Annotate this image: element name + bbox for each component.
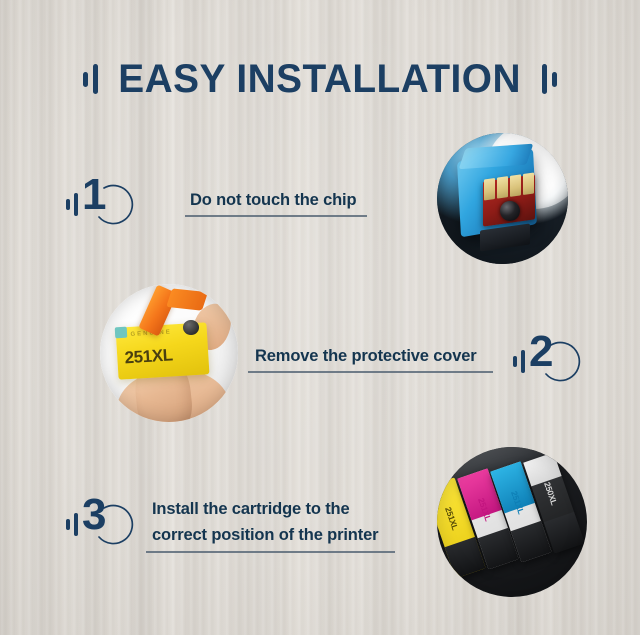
step-2-number: 2 <box>529 330 553 374</box>
step-3-underline <box>146 551 395 553</box>
step-3-text-line-2: correct position of the printer <box>152 524 378 547</box>
step-1-text: Do not touch the chip <box>190 189 356 212</box>
step-3-number: 3 <box>82 493 106 537</box>
infographic-page: EASY INSTALLATION 1 Do not touch the chi… <box>0 0 640 635</box>
step-2-marker: 2 <box>513 333 589 395</box>
printer-cartridge-yellow-label: 251XL <box>443 506 460 532</box>
step-1-marker: 1 <box>66 176 142 238</box>
step-2-photo: GENUINE 251XL <box>100 284 238 422</box>
step-1-photo <box>437 133 568 264</box>
step-1-number: 1 <box>82 173 106 217</box>
step-3-tick-icon <box>66 513 78 536</box>
step-2-cartridge-label: 251XL <box>124 346 173 369</box>
title-right-quote-icon <box>542 62 557 96</box>
step-2-underline <box>248 371 493 373</box>
step-2-text: Remove the protective cover <box>255 345 477 368</box>
step-3-marker: 3 <box>66 496 142 558</box>
page-title: EASY INSTALLATION <box>119 59 522 99</box>
step-1-tick-icon <box>66 193 78 216</box>
printer-cartridge-black-label: 250XL <box>542 481 559 507</box>
page-title-row: EASY INSTALLATION <box>0 50 640 108</box>
step-3-text-line-1: Install the cartridge to the <box>152 498 350 521</box>
step-2-tick-icon <box>513 350 525 373</box>
step-1-underline <box>185 215 367 217</box>
title-left-quote-icon <box>83 62 98 96</box>
step-3-photo: 251XL 251XL 251XL 250XL <box>437 447 587 597</box>
